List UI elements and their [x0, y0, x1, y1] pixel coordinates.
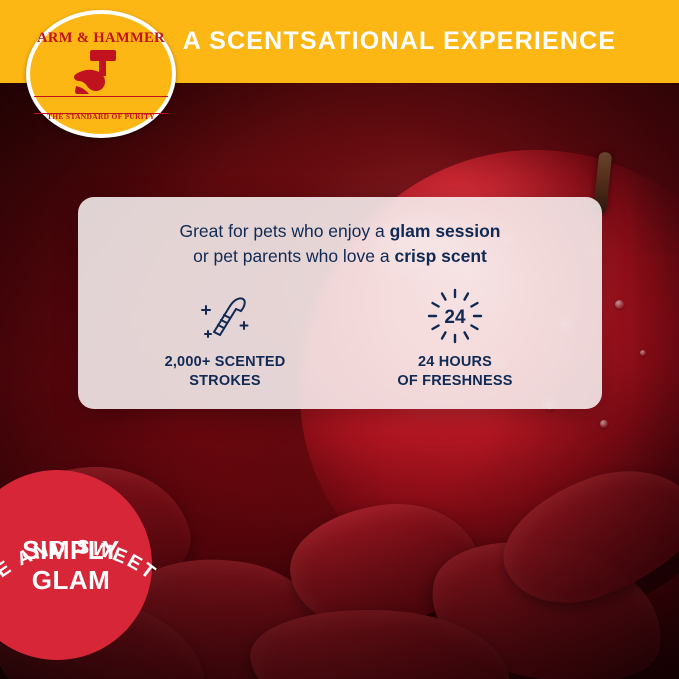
product-lifestyle-image: A SCENTSATIONAL EXPERIENCE ARM & HAMMER …	[0, 0, 679, 679]
claims-card: Great for pets who enjoy a glam session …	[78, 197, 602, 409]
scent-badge: SIMPLY GLAM ROSE AND SWEET APPLE	[0, 470, 182, 679]
claim-icon-wrap	[139, 287, 311, 345]
scent-name: SIMPLY GLAM	[0, 535, 120, 595]
arm-and-hammer-icon	[70, 48, 132, 100]
claim-24-hours: 24 24 HOURS OF FRESHNESS	[369, 287, 541, 391]
scent-name-line2: GLAM	[22, 565, 119, 595]
claim-label: 2,000+ SCENTED STROKES	[139, 353, 311, 391]
claims-headline-line1: Great for pets who enjoy a glam session	[78, 219, 602, 244]
claim-scented-strokes: 2,000+ SCENTED STROKES	[139, 287, 311, 391]
claims-headline-line1-prefix: Great for pets who enjoy a	[179, 221, 389, 241]
claim-icon-wrap: 24	[369, 287, 541, 345]
water-droplet	[600, 420, 608, 428]
claims-headline-line1-bold: glam session	[390, 221, 501, 241]
toothbrush-sparkle-icon	[190, 288, 260, 344]
water-droplet	[640, 350, 646, 356]
scent-name-line1: SIMPLY	[22, 535, 119, 565]
clock-24-icon: 24	[426, 287, 484, 345]
claim-label-line2: STROKES	[139, 372, 311, 391]
water-droplet	[615, 300, 624, 309]
claim-label: 24 HOURS OF FRESHNESS	[369, 353, 541, 391]
claim-label-line1: 2,000+ SCENTED	[139, 353, 311, 372]
claims-headline-line2-prefix: or pet parents who love a	[193, 246, 394, 266]
brand-logo: ARM & HAMMER THE STANDARD OF PURITY	[26, 10, 176, 138]
claims-headline: Great for pets who enjoy a glam session …	[78, 197, 602, 269]
claims-row: 2,000+ SCENTED STROKES	[78, 287, 602, 391]
claim-label-line1: 24 HOURS	[369, 353, 541, 372]
scent-badge-circle: SIMPLY GLAM	[0, 470, 152, 660]
clock-icon-value: 24	[444, 307, 466, 328]
claim-label-line2: OF FRESHNESS	[369, 372, 541, 391]
claims-headline-line2-bold: crisp scent	[394, 246, 486, 266]
logo-tagline: THE STANDARD OF PURITY	[26, 112, 176, 121]
claims-headline-line2: or pet parents who love a crisp scent	[78, 244, 602, 269]
logo-brand-text: ARM & HAMMER	[26, 30, 176, 47]
